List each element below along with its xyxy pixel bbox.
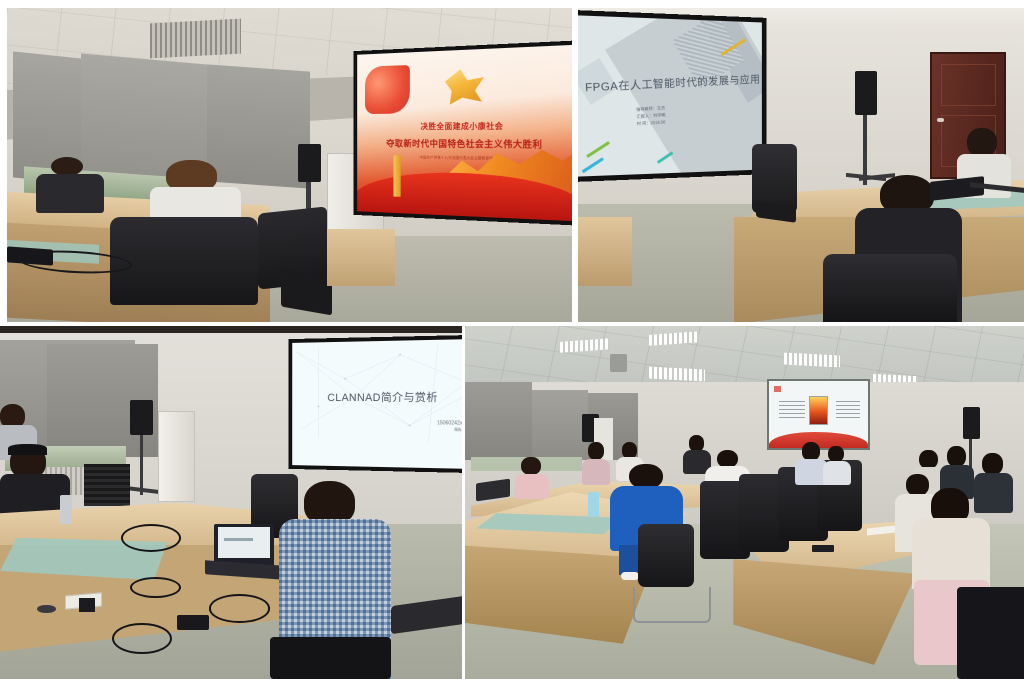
slide-line-2: 夺取新时代中国特色社会主义伟大胜利 xyxy=(357,137,578,151)
accent-line-teal xyxy=(657,152,673,164)
person-left-1 xyxy=(515,457,549,499)
door-handle xyxy=(937,118,944,122)
pa-speaker xyxy=(130,400,153,435)
cable-loop-middle xyxy=(130,577,181,598)
pa-speaker xyxy=(855,71,877,115)
projector-power-brick xyxy=(177,615,210,629)
slide-text-right xyxy=(836,401,860,418)
gutter-left-top xyxy=(0,0,7,326)
projection-screen-frame: 决胜全面建成小康社会 夺取新时代中国特色社会主义伟大胜利 中国共产党第十九次全国… xyxy=(354,40,578,225)
panel-bottom-left: CLANNAD简介与赏析 15060242xx 报告人 xyxy=(0,326,465,679)
projection-screen: FPGA在人工智能时代的发展与应用 指导教师：王杰 汇报人：刘学明 时 间：20… xyxy=(578,15,762,177)
chair-frame xyxy=(633,587,711,622)
slide-student-info: 15060242xx 报告人 xyxy=(437,419,465,433)
ceiling-vent xyxy=(150,18,241,58)
office-chair-front xyxy=(110,217,258,305)
laptop-screen-text xyxy=(224,538,253,541)
head xyxy=(588,442,604,460)
panel-top-left: 决胜全面建成小康社会 夺取新时代中国特色社会主义伟大胜利 中国共产党第十九次全国… xyxy=(7,8,578,324)
pa-speaker-right xyxy=(963,407,981,439)
office-chair-foreground xyxy=(823,254,957,324)
head xyxy=(967,128,997,157)
slide-fpga: FPGA在人工智能时代的发展与应用 指导教师：王杰 汇报人：刘学明 时 间：20… xyxy=(578,15,762,177)
laptop-screen xyxy=(218,527,270,558)
panel-bottom-right xyxy=(465,326,1024,679)
chair-blue-shirt xyxy=(638,524,694,588)
head xyxy=(982,453,1003,475)
side-cabinet xyxy=(578,217,632,287)
slide-clannad: CLANNAD简介与赏析 15060242xx 报告人 xyxy=(292,339,465,469)
podium xyxy=(327,229,396,286)
slide-line-1: 决胜全面建成小康社会 xyxy=(357,120,578,132)
power-plug xyxy=(79,598,95,612)
equipment-rack xyxy=(84,464,131,506)
cap xyxy=(8,444,47,455)
photo-collage: 决胜全面建成小康社会 夺取新时代中国特色社会主义伟大胜利 中国共产党第十九次全国… xyxy=(0,0,1024,679)
panel-top-right: FPGA在人工智能时代的发展与应用 指导教师：王杰 汇报人：刘学明 时 间：20… xyxy=(578,8,1024,324)
torso xyxy=(36,174,105,214)
accent-line-green xyxy=(586,141,610,158)
window-blind-2 xyxy=(532,390,588,461)
cable-loop-right xyxy=(209,594,269,622)
projection-screen-frame xyxy=(767,379,870,450)
phone-on-table xyxy=(812,545,834,552)
projection-screen: CLANNAD简介与赏析 15060242xx 报告人 xyxy=(292,339,465,469)
torso xyxy=(823,461,851,485)
projection-screen: 决胜全面建成小康社会 夺取新时代中国特色社会主义伟大胜利 中国共产党第十九次全国… xyxy=(357,45,578,221)
head xyxy=(947,446,966,467)
speaker-stand-pole xyxy=(140,435,143,495)
person-back-2 xyxy=(823,446,851,485)
air-conditioner-cabinet xyxy=(158,411,195,503)
accent-line-cyan xyxy=(582,157,604,173)
projection-screen-frame: CLANNAD简介与赏析 15060242xx 报告人 xyxy=(288,334,465,473)
slide-title: CLANNAD简介与赏析 xyxy=(306,388,461,404)
gutter-top xyxy=(0,0,1024,8)
flame-image xyxy=(809,396,829,425)
thermos xyxy=(60,495,72,523)
gutter-vertical-bottom xyxy=(462,326,465,679)
head xyxy=(51,157,84,176)
ceiling-projector xyxy=(610,354,627,372)
slide-logo-mark xyxy=(774,386,781,391)
cable-loop-lower xyxy=(112,623,172,655)
head xyxy=(802,442,821,461)
laptop[interactable] xyxy=(214,524,274,566)
cable-loop-upper xyxy=(121,524,181,552)
person-left-2 xyxy=(582,442,610,484)
monument-graphic xyxy=(393,155,400,197)
party-emblem-icon xyxy=(439,64,488,108)
gutter-vertical-top xyxy=(572,0,578,326)
slide-party-congress: 决胜全面建成小康社会 夺取新时代中国特色社会主义伟大胜利 中国共产党第十九次全国… xyxy=(357,45,578,221)
slide-far xyxy=(769,381,868,448)
shoe xyxy=(621,572,640,580)
window-blind-1 xyxy=(465,382,532,460)
head xyxy=(828,446,844,462)
door-panel-upper xyxy=(941,64,996,106)
pa-speaker xyxy=(298,144,321,182)
gutter-horizontal xyxy=(0,322,1024,326)
projection-screen xyxy=(769,381,868,448)
slide-meta: 指导教师：王杰 汇报人：刘学明 时 间：2018.06 xyxy=(636,105,666,128)
slide-text-left xyxy=(779,401,805,418)
presenter-label: 报告人 xyxy=(437,427,465,433)
flag-graphic xyxy=(365,65,410,114)
torso xyxy=(515,474,549,499)
chair-right-foreground xyxy=(957,587,1024,679)
projection-screen-frame: FPGA在人工智能时代的发展与应用 指导教师：王杰 汇报人：刘学明 时 间：20… xyxy=(578,10,766,183)
torso xyxy=(582,459,610,485)
office-chair-presenter xyxy=(270,637,391,679)
head xyxy=(521,457,540,476)
water-bottle xyxy=(588,492,599,517)
person-seated-left xyxy=(36,157,105,214)
student-id: 15060242xx xyxy=(437,419,465,427)
head xyxy=(919,450,938,470)
torso xyxy=(912,518,990,589)
